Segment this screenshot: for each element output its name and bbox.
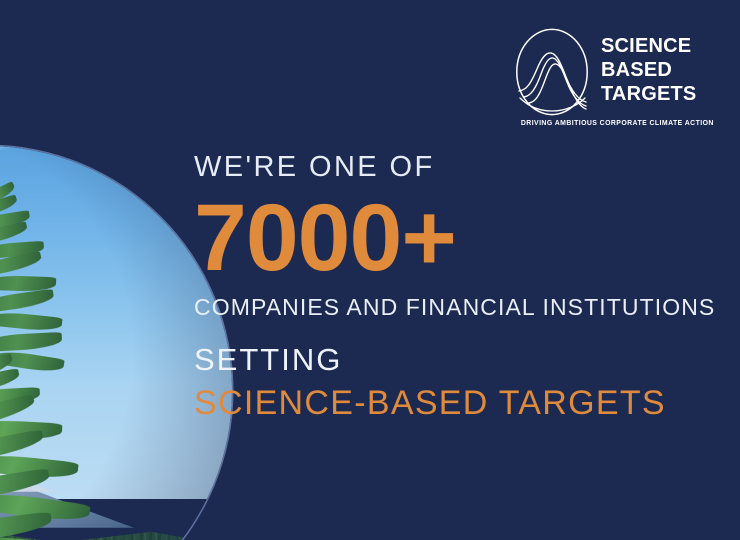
logo-tagline: DRIVING AMBITIOUS CORPORATE CLIMATE ACTI…	[521, 118, 706, 127]
conifer-main-tree	[0, 361, 122, 540]
poster-canvas: SCIENCE BASED TARGETS DRIVING AMBITIOUS …	[0, 0, 740, 540]
headline-action-object: SCIENCE-BASED TARGETS	[194, 381, 714, 425]
logo-word-3: TARGETS	[601, 82, 696, 106]
mountain-wave-circle-icon	[515, 28, 589, 116]
headline-action-verb: SETTING	[194, 340, 714, 380]
headline-number: 7000+	[194, 188, 714, 288]
conifer-upper-sprig	[0, 188, 68, 378]
sbti-logo: SCIENCE BASED TARGETS DRIVING AMBITIOUS …	[515, 28, 710, 128]
logo-word-1: SCIENCE	[601, 34, 696, 58]
headline-kicker: WE'RE ONE OF	[194, 148, 714, 186]
headline-subject: COMPANIES AND FINANCIAL INSTITUTIONS	[194, 292, 714, 322]
logo-wordmark: SCIENCE BASED TARGETS	[601, 34, 696, 106]
headline-block: WE'RE ONE OF 7000+ COMPANIES AND FINANCI…	[194, 148, 714, 425]
logo-word-2: BASED	[601, 58, 696, 82]
